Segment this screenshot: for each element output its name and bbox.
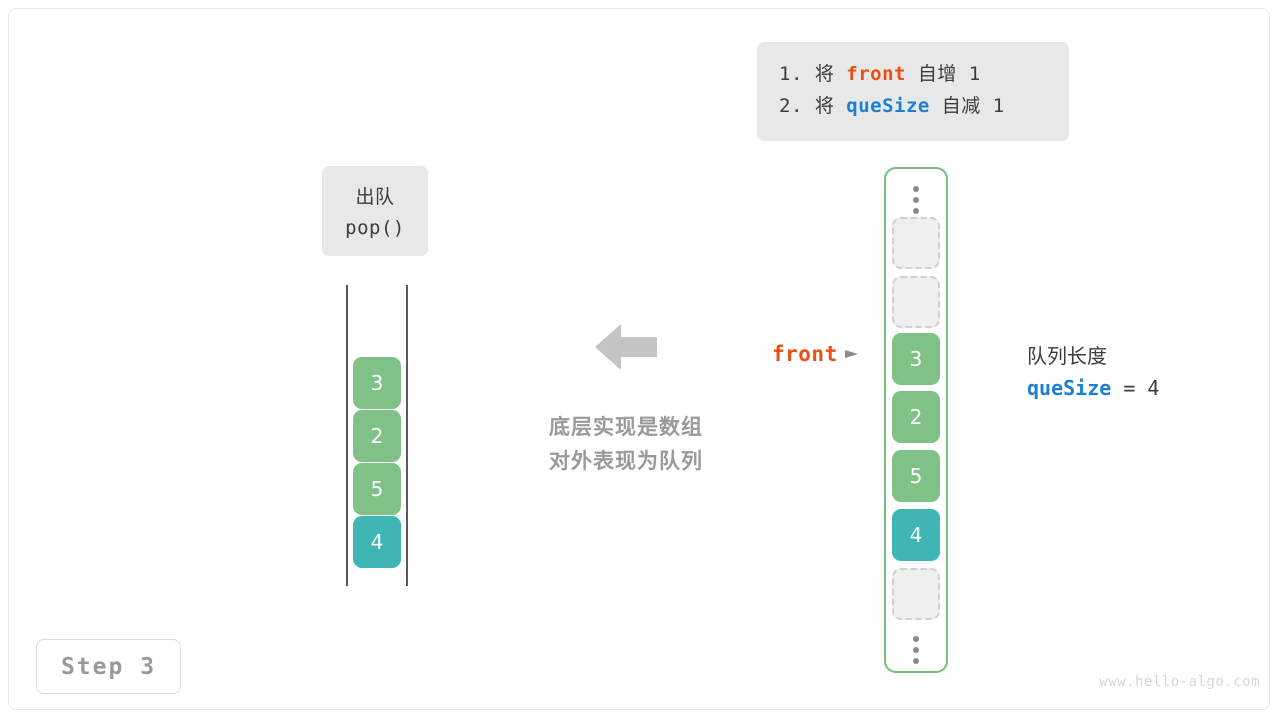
array-slot: [892, 217, 940, 269]
array-slot: [892, 568, 940, 620]
vertical-ellipsis-icon-top: [912, 186, 920, 214]
vertical-ellipsis-icon-bottom: [912, 636, 920, 664]
step-badge-label: Step 3: [61, 654, 156, 680]
pop-method: pop(): [322, 213, 428, 244]
triangle-right-icon: [845, 345, 858, 364]
array-slot-value: 4: [910, 523, 923, 547]
array-slot: [892, 276, 940, 328]
steps-callout: 1. 将 front 自增 1 2. 将 queSize 自减 1: [757, 42, 1069, 141]
queue-rail-left: [346, 285, 348, 586]
queue-column: 3 2 5 4: [346, 285, 408, 586]
queue-cell: 5: [353, 463, 401, 515]
front-pointer: front: [772, 342, 858, 366]
array-slot-value: 5: [910, 464, 923, 488]
step-badge: Step 3: [36, 639, 181, 694]
diagram-canvas: 1. 将 front 自增 1 2. 将 queSize 自减 1 出队 pop…: [0, 0, 1280, 720]
queue-cell-value: 5: [371, 477, 384, 501]
array-slot: 3: [892, 333, 940, 385]
quesize-value: 4: [1147, 376, 1159, 400]
center-caption-line-2: 对外表现为队列: [528, 444, 724, 478]
queue-cell-value: 3: [371, 371, 384, 395]
step-2-suffix: 自减 1: [930, 95, 1005, 117]
queue-cell: 2: [353, 410, 401, 462]
center-caption-line-1: 底层实现是数组: [528, 410, 724, 444]
queue-cell-value: 4: [371, 530, 384, 554]
pop-operation-callout: 出队 pop(): [322, 166, 428, 256]
pop-title: 出队: [322, 182, 428, 213]
step-1-suffix: 自增 1: [906, 63, 981, 85]
array-slot: 4: [892, 509, 940, 561]
step-1-keyword: front: [846, 63, 906, 85]
array-slot-value: 2: [910, 405, 923, 429]
center-caption: 底层实现是数组 对外表现为队列: [528, 410, 724, 478]
step-2-keyword: queSize: [846, 95, 930, 117]
quesize-variable: queSize: [1027, 376, 1111, 400]
queue-size-expression: queSize = 4: [1027, 371, 1237, 405]
array-slot: 2: [892, 391, 940, 443]
queue-cell: 3: [353, 357, 401, 409]
watermark: www.hello-algo.com: [1099, 674, 1260, 690]
queue-cell-value: 2: [371, 424, 384, 448]
step-line-1: 1. 将 front 自增 1: [779, 58, 1047, 90]
queue-rail-right: [406, 285, 408, 586]
step-line-2: 2. 将 queSize 自减 1: [779, 90, 1047, 122]
array-slot: 5: [892, 450, 940, 502]
queue-cell: 4: [353, 516, 401, 568]
array-slot-value: 3: [910, 347, 923, 371]
step-1-prefix: 1. 将: [779, 63, 846, 85]
queue-size-title: 队列长度: [1027, 341, 1237, 371]
quesize-equals: =: [1111, 376, 1147, 400]
front-pointer-label: front: [772, 342, 838, 366]
array-container: 3 2 5 4: [884, 167, 948, 673]
step-2-prefix: 2. 将: [779, 95, 846, 117]
arrow-left-icon: [595, 322, 657, 372]
queue-size-note: 队列长度 queSize = 4: [1027, 341, 1237, 405]
